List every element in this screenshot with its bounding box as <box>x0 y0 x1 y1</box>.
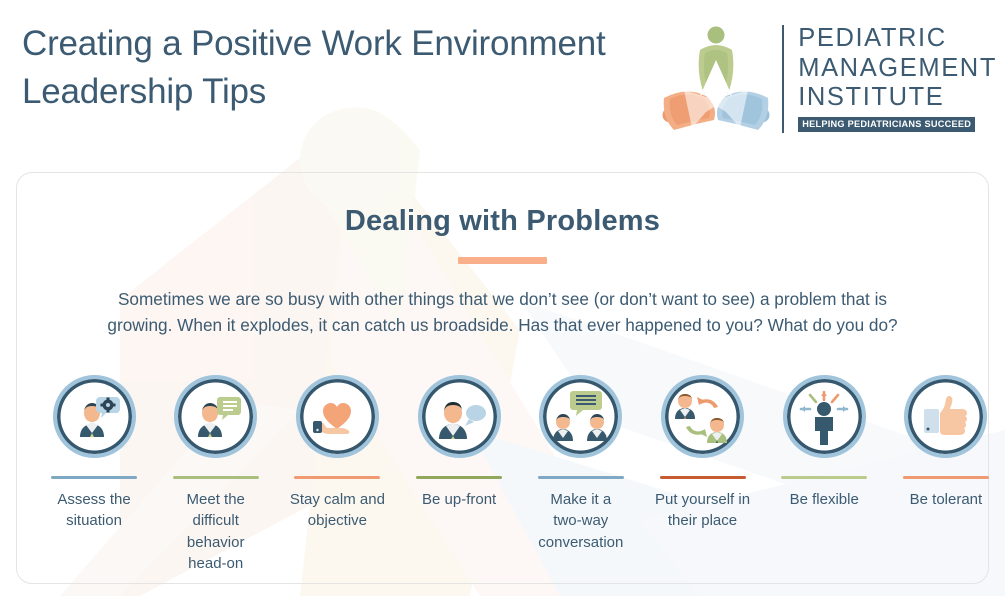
tip-accent-rule <box>173 476 259 479</box>
tip-label: Stay calm and objective <box>290 489 385 532</box>
logo-line-2: MANAGEMENT <box>798 56 997 82</box>
tips-row: Assess the situationMeet the difficult b… <box>35 375 1005 574</box>
page-title: Creating a Positive Work Environment Lea… <box>22 14 606 117</box>
pmi-star-people-logo-icon <box>652 20 780 138</box>
tip-label: Be flexible <box>790 489 859 510</box>
tip-item[interactable]: Be flexible <box>765 375 883 510</box>
tip-accent-rule <box>538 476 624 479</box>
person-gear-bubble-icon[interactable] <box>53 375 136 458</box>
card-body-text: Sometimes we are so busy with other thin… <box>103 286 903 338</box>
tip-item[interactable]: Put yourself in their place <box>644 375 762 532</box>
logo-wordmark: PEDIATRIC MANAGEMENT INSTITUTE HELPING P… <box>798 26 997 131</box>
tip-label: Be tolerant <box>910 489 983 510</box>
tip-accent-rule <box>903 476 989 479</box>
people-swap-arrows-icon[interactable] <box>661 375 744 458</box>
content-card: Dealing with Problems Sometimes we are s… <box>16 172 989 584</box>
hand-heart-icon[interactable] <box>296 375 379 458</box>
tip-label: Meet the difficult behavior head-on <box>187 489 245 574</box>
tip-item[interactable]: Be up-front <box>400 375 518 510</box>
tip-label: Assess the situation <box>57 489 130 532</box>
brand-logo: PEDIATRIC MANAGEMENT INSTITUTE HELPING P… <box>652 14 997 138</box>
tip-accent-rule <box>294 476 380 479</box>
tip-label: Make it a two-way conversation <box>538 489 623 553</box>
tip-accent-rule <box>781 476 867 479</box>
logo-line-3: INSTITUTE <box>798 85 997 111</box>
tip-label: Be up-front <box>422 489 496 510</box>
two-people-chat-icon[interactable] <box>539 375 622 458</box>
card-title: Dealing with Problems <box>17 205 988 238</box>
person-green-bubble-icon[interactable] <box>174 375 257 458</box>
logo-tagline: HELPING PEDIATRICIANS SUCCEED <box>798 117 975 131</box>
thumbs-up-icon[interactable] <box>904 375 987 458</box>
tip-item[interactable]: Meet the difficult behavior head-on <box>157 375 275 574</box>
tip-accent-rule <box>51 476 137 479</box>
tip-item[interactable]: Assess the situation <box>35 375 153 532</box>
tip-accent-rule <box>416 476 502 479</box>
person-radiating-arrows-icon[interactable] <box>783 375 866 458</box>
tip-item[interactable]: Make it a two-way conversation <box>522 375 640 553</box>
tip-label: Put yourself in their place <box>655 489 750 532</box>
logo-line-1: PEDIATRIC <box>798 26 997 52</box>
slide-root: Creating a Positive Work Environment Lea… <box>0 0 1005 596</box>
logo-divider <box>782 25 784 133</box>
page-header: Creating a Positive Work Environment Lea… <box>0 0 1005 150</box>
tip-item[interactable]: Stay calm and objective <box>278 375 396 532</box>
title-accent-rule <box>458 257 547 264</box>
tip-item[interactable]: Be tolerant <box>887 375 1005 510</box>
tip-accent-rule <box>660 476 746 479</box>
person-blue-bubble-icon[interactable] <box>418 375 501 458</box>
